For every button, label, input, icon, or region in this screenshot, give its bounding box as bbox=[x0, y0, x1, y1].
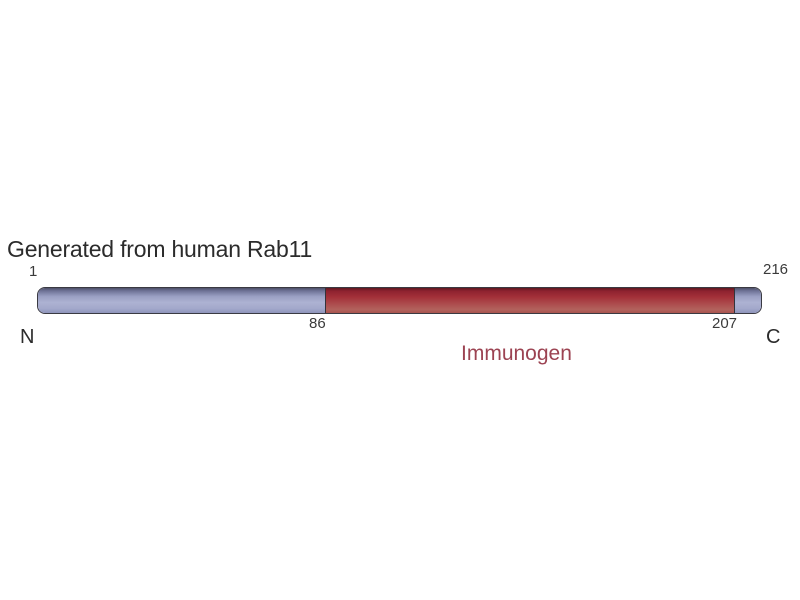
segment-c-terminal bbox=[734, 288, 762, 313]
protein-bar-track bbox=[37, 287, 762, 314]
c-terminus-label: C bbox=[766, 326, 780, 348]
end-residue-label: 216 bbox=[763, 262, 788, 278]
immunogen-region-label: Immunogen bbox=[461, 342, 572, 366]
page-title: Generated from human Rab11 bbox=[7, 236, 312, 262]
segment-immunogen bbox=[325, 288, 734, 313]
protein-bar bbox=[37, 287, 762, 314]
start-residue-label: 1 bbox=[29, 264, 37, 280]
n-terminus-label: N bbox=[20, 326, 34, 348]
divider-residue-86 bbox=[325, 288, 326, 313]
immunogen-end-residue-label: 207 bbox=[712, 316, 737, 332]
segment-n-terminal bbox=[38, 288, 325, 313]
divider-residue-207 bbox=[734, 288, 735, 313]
protein-domain-diagram: Generated from human Rab11 1 216 86 207 … bbox=[0, 0, 800, 600]
immunogen-start-residue-label: 86 bbox=[309, 316, 326, 332]
